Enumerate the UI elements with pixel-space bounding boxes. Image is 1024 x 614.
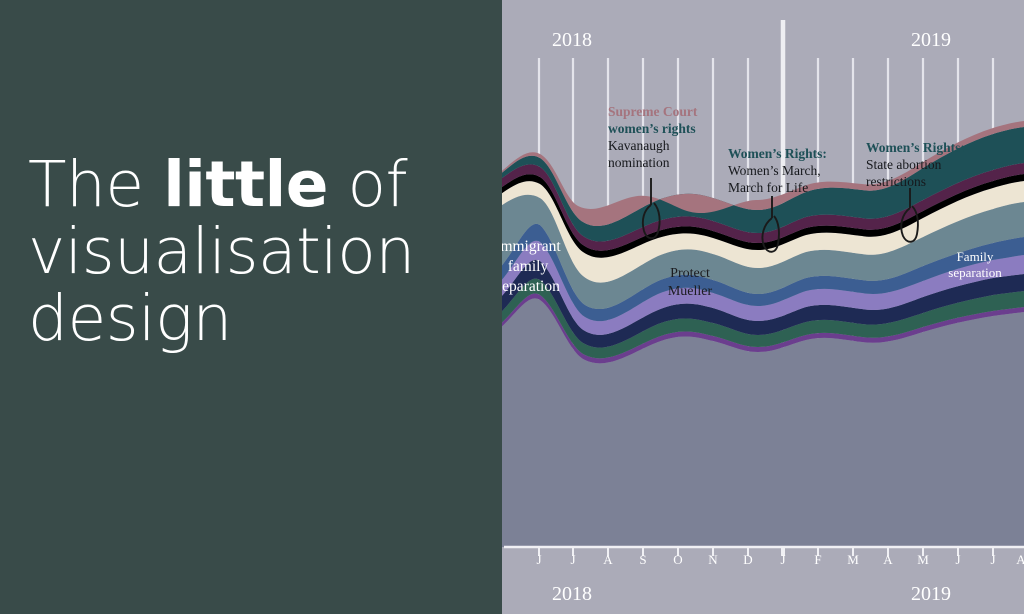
year-label-bottom-2019: 2019 [911, 583, 951, 606]
month-tick-label-7: J [780, 552, 785, 568]
annotation-line-body-2: March for Life [728, 179, 827, 196]
stream-label-line: Mueller [668, 284, 712, 299]
slide-root: 2018 2019 J J A S O N D J F M A M J J A … [0, 0, 1024, 614]
stream-label-protect-mueller: ProtectMueller [620, 265, 760, 300]
stream-label-line: separation [496, 278, 560, 295]
page-title: The little ofvisualisationdesign [28, 152, 498, 352]
annotation-line-body-1: Women’s March, [728, 162, 827, 179]
title-panel: The little ofvisualisationdesign [0, 0, 502, 614]
month-tick-label-11: M [917, 552, 929, 568]
title-part-1: The [28, 148, 163, 221]
title-part-3: visualisation [28, 215, 415, 288]
month-tick-label-3: S [639, 552, 646, 568]
annotation-line-body-2: nomination [608, 154, 697, 171]
year-label-top-2019: 2019 [911, 29, 951, 52]
month-tick-label-13: J [990, 552, 995, 568]
annotation-line-teal: women’s rights [608, 120, 697, 137]
month-tick-label-6: D [743, 552, 752, 568]
month-tick-label-8: F [814, 552, 821, 568]
annotation-state-abortion-restrictions: Women’s Rights: State abortion restricti… [866, 139, 965, 190]
stream-label-line: separation [948, 265, 1001, 280]
annotation-womens-march: Women’s Rights: Women’s March, March for… [728, 145, 827, 196]
month-tick-label-12: J [955, 552, 960, 568]
month-tick-label-9: M [847, 552, 859, 568]
month-tick-label-5: N [708, 552, 717, 568]
annotation-line-body-2: restrictions [866, 173, 965, 190]
year-label-bottom-2018: 2018 [552, 583, 592, 606]
month-tick-label-1: J [570, 552, 575, 568]
title-part-4: design [28, 282, 232, 355]
month-tick-label-2: A [603, 552, 612, 568]
stream-label-family-separation: Familyseparation [932, 249, 1018, 281]
annotation-line-rose: Supreme Court [608, 103, 697, 120]
annotation-kavanaugh: Supreme Court women’s rights Kavanaugh n… [608, 103, 697, 171]
annotation-line-body-1: State abortion [866, 156, 965, 173]
annotation-line-teal: Women’s Rights: [728, 145, 827, 162]
month-tick-label-0: J [536, 552, 541, 568]
stream-label-line: Immigrant [495, 238, 560, 255]
month-tick-label-4: O [673, 552, 682, 568]
month-tick-label-10: A [883, 552, 892, 568]
annotation-line-teal: Women’s Rights: [866, 139, 965, 156]
title-part-2: of [328, 148, 407, 221]
month-tick-label-14: A [1016, 552, 1024, 568]
x-axis [504, 547, 1024, 556]
stream-label-line: Family [957, 249, 994, 264]
year-label-top-2018: 2018 [552, 29, 592, 52]
title-part-emphasis: little [163, 148, 328, 221]
annotation-line-body-1: Kavanaugh [608, 137, 697, 154]
stream-label-line: Protect [670, 266, 710, 281]
stream-label-line: family [508, 258, 548, 275]
